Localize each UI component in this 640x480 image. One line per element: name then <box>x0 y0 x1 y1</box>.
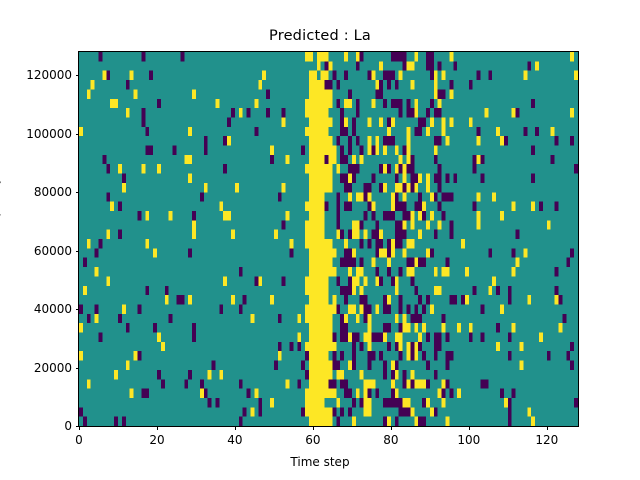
y-axis-tick-mark <box>76 75 80 76</box>
x-axis-tick-label: 40 <box>227 433 242 447</box>
heatmap-image <box>79 52 578 426</box>
x-axis-tick-label: 120 <box>535 433 558 447</box>
y-axis-tick-label: 100000 <box>26 127 72 141</box>
y-axis-tick-mark <box>76 192 80 193</box>
x-axis-tick-mark <box>235 426 236 430</box>
y-axis-tick-mark <box>76 309 80 310</box>
y-axis-tick-label: 80000 <box>34 185 72 199</box>
y-axis-tick-label: 60000 <box>34 244 72 258</box>
x-axis-tick-mark <box>313 426 314 430</box>
x-axis-tick-mark <box>157 426 158 430</box>
x-axis-tick-mark <box>79 426 80 430</box>
y-axis-tick-label: 120000 <box>26 68 72 82</box>
x-axis-label: Time step <box>0 455 640 469</box>
x-axis-tick-mark <box>391 426 392 430</box>
y-axis-tick-mark <box>76 134 80 135</box>
matplotlib-figure: Predicted : La Frequency (Hz) Time step … <box>0 0 640 480</box>
x-axis-tick-mark <box>547 426 548 430</box>
y-axis-tick-label: 0 <box>64 419 72 433</box>
y-axis-tick-label: 20000 <box>34 361 72 375</box>
x-axis-tick-label: 0 <box>75 433 83 447</box>
page-title: Predicted : La <box>0 28 640 44</box>
x-axis-tick-label: 100 <box>457 433 480 447</box>
x-axis-tick-label: 60 <box>305 433 320 447</box>
y-axis-label: Frequency (Hz) <box>0 149 1 240</box>
x-axis-tick-label: 80 <box>383 433 398 447</box>
y-axis-tick-mark <box>76 368 80 369</box>
x-axis-tick-label: 20 <box>149 433 164 447</box>
heatmap-plot-area <box>78 51 579 427</box>
x-axis-tick-mark <box>469 426 470 430</box>
y-axis-tick-label: 40000 <box>34 302 72 316</box>
y-axis-tick-mark <box>76 251 80 252</box>
